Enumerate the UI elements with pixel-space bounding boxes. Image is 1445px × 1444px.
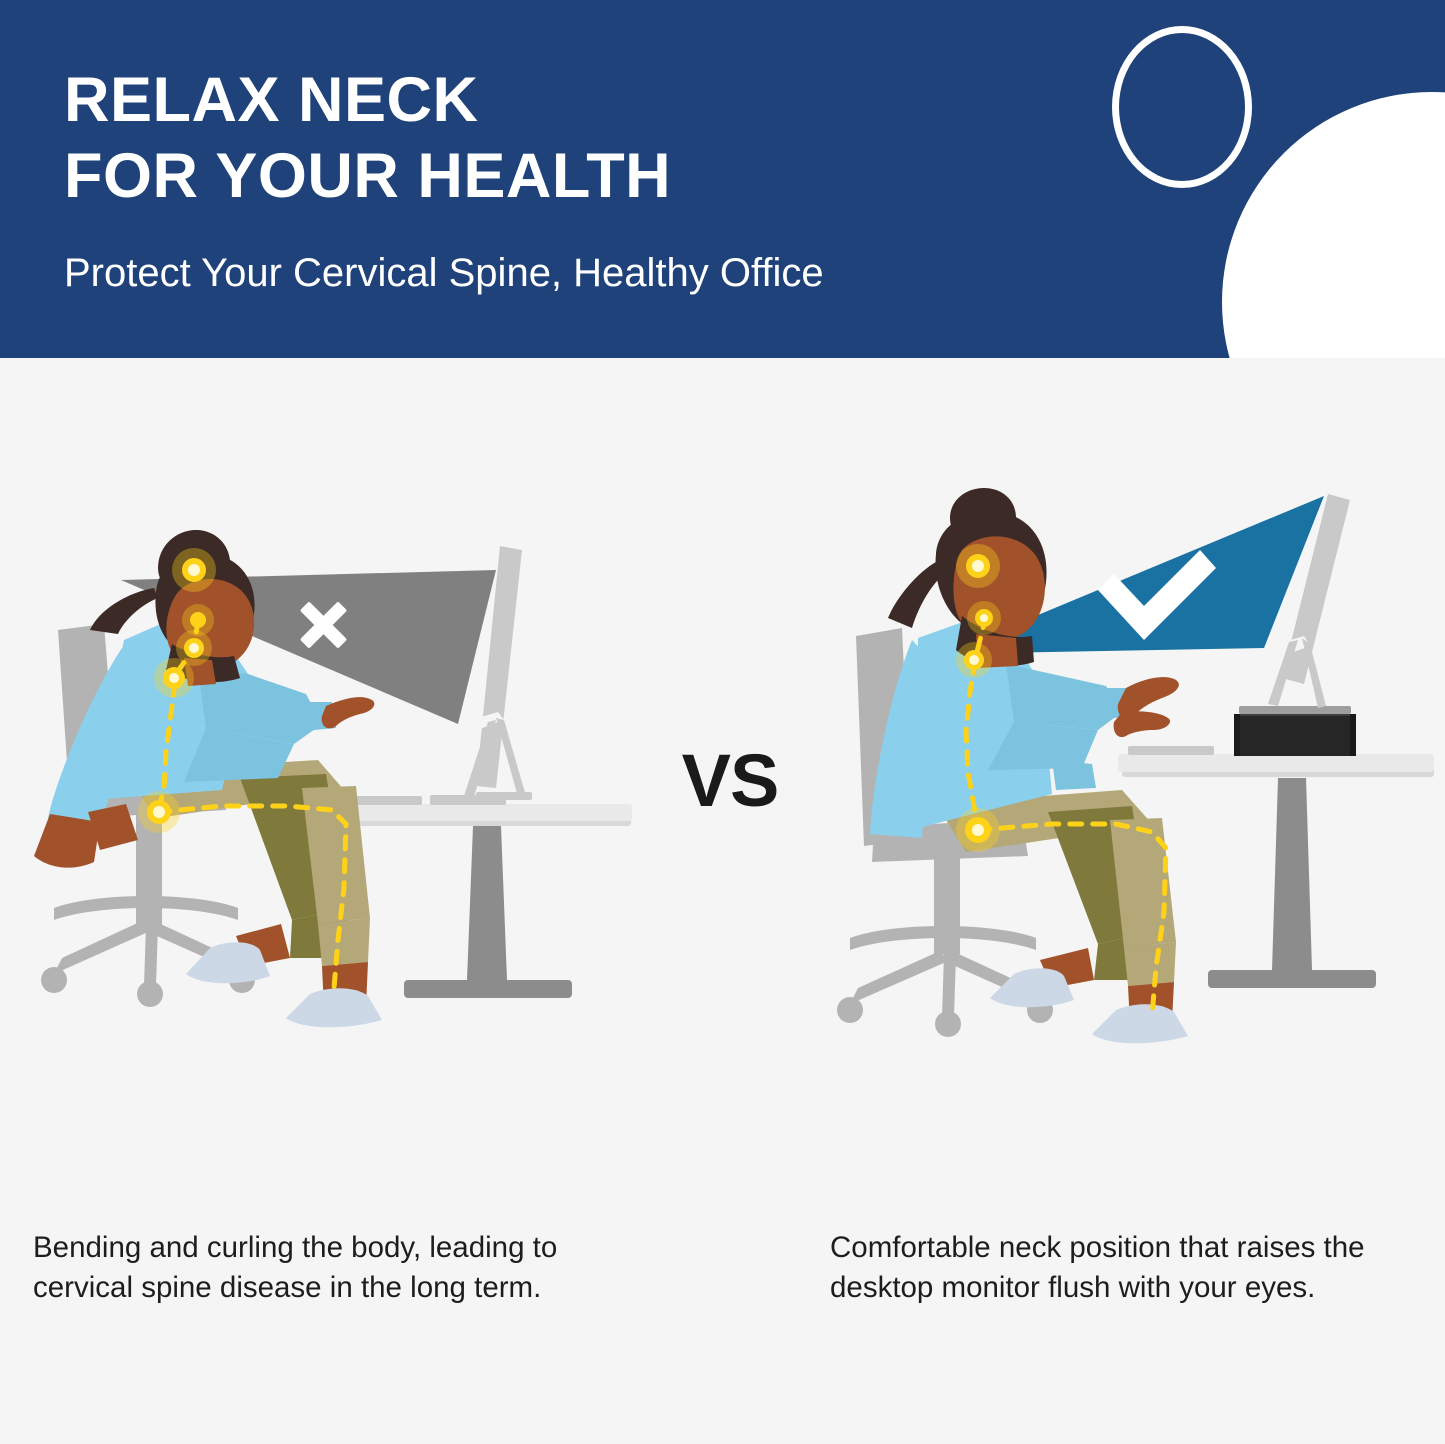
person-arm-bad	[288, 697, 374, 732]
spine-marker	[956, 808, 1000, 852]
spine-marker	[172, 548, 216, 592]
correct-posture-scene	[826, 488, 1445, 1088]
page-title: RELAX NECK FOR YOUR HEALTH Protect Your …	[64, 62, 1064, 298]
spine-marker	[138, 791, 180, 833]
circle-outline-icon	[1112, 26, 1252, 188]
circle-filled-icon	[1222, 92, 1445, 358]
caption-incorrect-line-2: cervical spine disease in the long term.	[33, 1268, 673, 1308]
spine-marker	[967, 601, 1001, 635]
title-line-1: RELAX NECK	[64, 62, 1064, 138]
comparison-area: VS	[0, 358, 1445, 1444]
page-subtitle: Protect Your Cervical Spine, Healthy Off…	[64, 248, 1064, 298]
caption-correct: Comfortable neck position that raises th…	[830, 1228, 1445, 1308]
desk-bad	[322, 804, 632, 998]
title-line-2: FOR YOUR HEALTH	[64, 138, 1064, 214]
monitor-riser	[1234, 706, 1356, 756]
caption-incorrect-line-1: Bending and curling the body, leading to	[33, 1228, 673, 1268]
caption-correct-line-2: desktop monitor flush with your eyes.	[830, 1268, 1445, 1308]
spine-marker	[956, 544, 1000, 588]
spine-marker	[956, 642, 992, 678]
keyboard-good	[1128, 746, 1214, 755]
caption-correct-line-1: Comfortable neck position that raises th…	[830, 1228, 1445, 1268]
infographic-poster: RELAX NECK FOR YOUR HEALTH Protect Your …	[0, 0, 1445, 1444]
versus-label: VS	[650, 738, 810, 823]
incorrect-posture-scene	[26, 488, 646, 1088]
spine-marker	[154, 658, 194, 698]
header-banner: RELAX NECK FOR YOUR HEALTH Protect Your …	[0, 0, 1445, 358]
caption-incorrect: Bending and curling the body, leading to…	[33, 1228, 673, 1308]
